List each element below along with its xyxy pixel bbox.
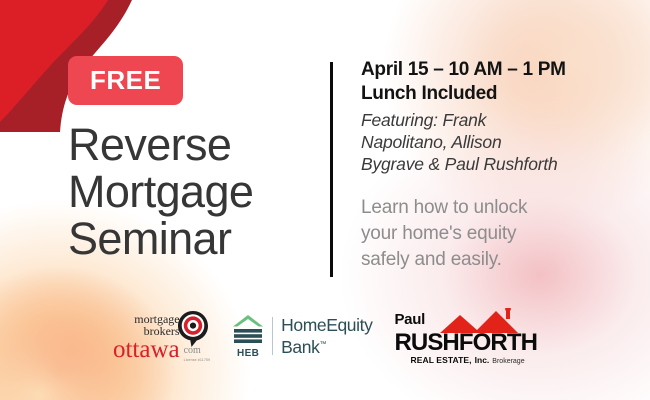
event-speakers: Featuring: Frank Napolitano, Allison Byg… (361, 109, 606, 175)
mbo-line-2: brokers (144, 325, 180, 337)
heb-name-line-2: Bank™ (281, 335, 372, 357)
column-divider (330, 62, 333, 277)
seminar-poster: FREE Reverse Mortgage Seminar April 15 –… (0, 0, 650, 400)
mbo-icon-group: com License #11759 (178, 311, 211, 362)
free-badge: FREE (68, 56, 183, 105)
prr-top-row: Paul (394, 307, 518, 334)
heb-trademark: ™ (319, 341, 326, 348)
logo-paul-rushforth: Paul RUSHFORTH REAL ESTATE, Inc. Brokera… (394, 307, 537, 365)
prr-last-name: RUSHFORTH (394, 332, 537, 354)
heb-divider (272, 317, 273, 355)
sponsor-logo-strip: mortgage brokers ottawa com License #117… (0, 303, 650, 369)
prr-inc: Inc. (475, 355, 490, 365)
mbo-line-3: ottawa (113, 338, 180, 362)
prr-first-name: Paul (394, 311, 424, 328)
house-roof-icon (232, 314, 264, 346)
logo-home-equity-bank: HEB HomeEquity Bank™ (232, 314, 372, 359)
heb-name-line-1: HomeEquity (281, 316, 372, 335)
mbo-tld: com (184, 345, 201, 356)
heb-mark: HEB (232, 314, 264, 359)
heb-wordmark: HomeEquity Bank™ (281, 316, 372, 357)
red-rooftops-icon (440, 307, 518, 334)
heb-abbreviation: HEB (237, 348, 259, 359)
mbo-wordmark: mortgage brokers ottawa (113, 311, 180, 362)
page-title: Reverse Mortgage Seminar (68, 121, 318, 262)
event-tagline: Learn how to unlock your home's equity s… (361, 195, 606, 273)
logo-mortgage-brokers-ottawa: mortgage brokers ottawa com License #117… (113, 311, 210, 362)
mbo-license: License #11759 (184, 358, 211, 362)
event-datetime: April 15 – 10 AM – 1 PM Lunch Included (361, 58, 606, 106)
target-pin-icon (178, 311, 208, 347)
prr-brokerage: Brokerage (492, 358, 524, 365)
prr-subtitle: REAL ESTATE, Inc. Brokerage (394, 355, 524, 365)
right-content-column: April 15 – 10 AM – 1 PM Lunch Included F… (361, 58, 606, 273)
mbo-line-1: mortgage (134, 314, 179, 325)
heb-name-bank: Bank (281, 336, 319, 356)
prr-real-estate: REAL ESTATE, (410, 355, 471, 365)
left-content-column: FREE Reverse Mortgage Seminar (68, 56, 318, 262)
